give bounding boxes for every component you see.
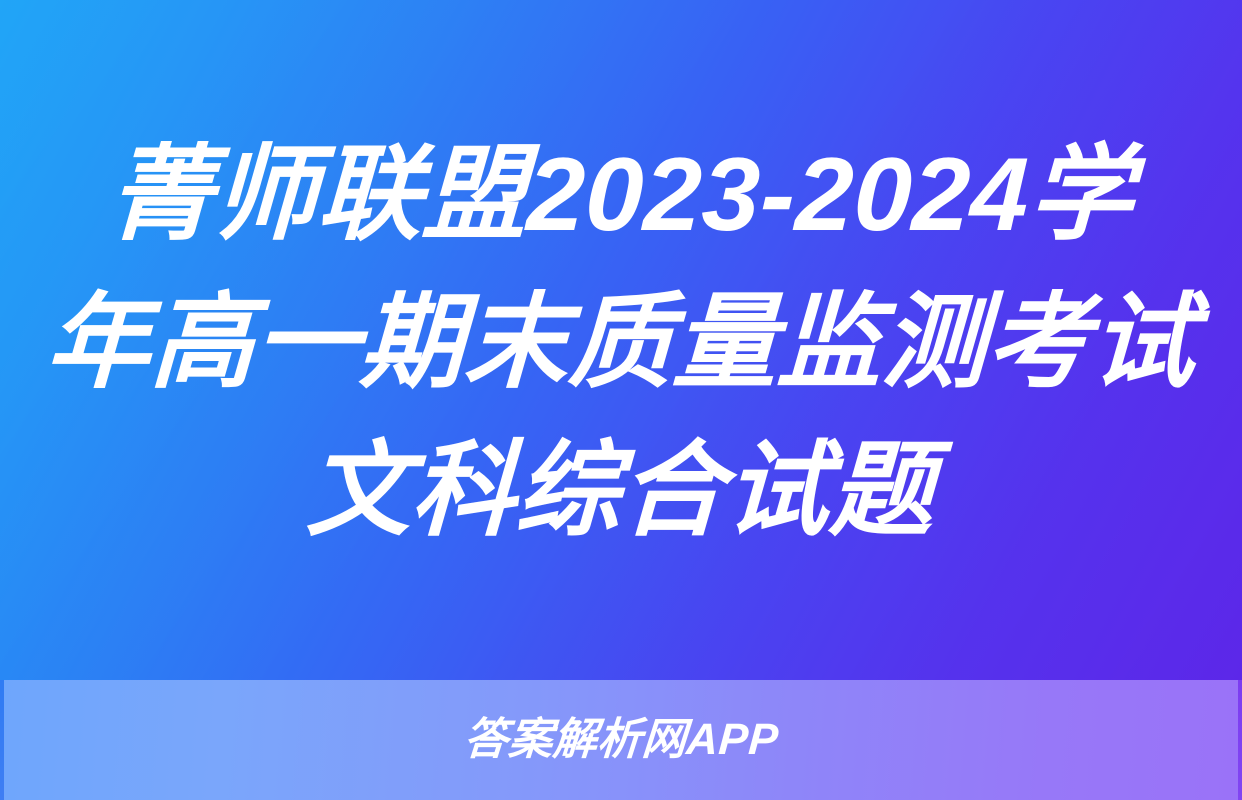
page-title-line-1: 菁师联盟2023-2024学 xyxy=(106,121,1136,269)
poster-title-block: 菁师联盟2023-2024学 年高一期末质量监测考试 文科综合试题 xyxy=(0,0,1242,680)
exam-title-poster: 菁师联盟2023-2024学 年高一期末质量监测考试 文科综合试题 答案解析网A… xyxy=(0,0,1242,800)
footer-banner: 答案解析网APP xyxy=(0,680,1242,800)
footer-right-edge-accent xyxy=(1238,680,1242,800)
footer-left-edge-accent xyxy=(0,680,4,800)
footer-watermark-label: 答案解析网APP xyxy=(462,716,780,764)
page-title-line-3: 文科综合试题 xyxy=(305,417,937,565)
page-title-line-2: 年高一期末质量监测考试 xyxy=(44,269,1199,417)
